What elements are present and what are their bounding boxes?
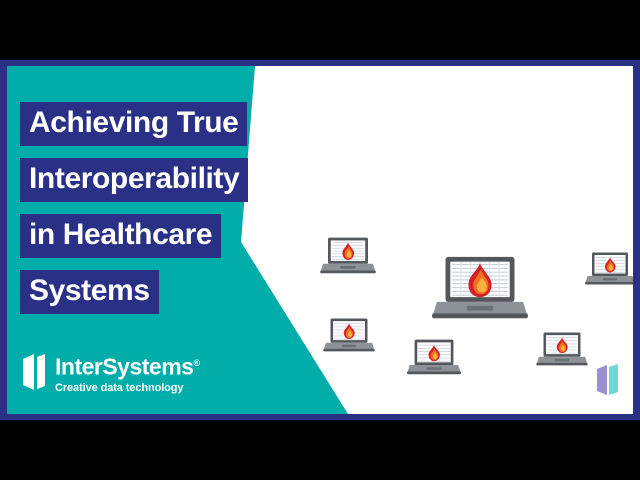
page-title: Achieving True Interoperability in Healt… <box>20 102 350 326</box>
letterbox-bar-top <box>0 0 640 60</box>
title-line-4: Systems <box>20 270 159 314</box>
laptop-with-flame-icon <box>536 333 587 366</box>
slide-canvas: Achieving True Interoperability in Healt… <box>7 66 633 414</box>
letterbox-bar-bottom <box>0 420 640 480</box>
laptop-with-flame-icon <box>585 253 633 285</box>
laptop-with-flame-icon <box>320 238 376 274</box>
laptop-bottom-left <box>407 338 461 377</box>
laptop-with-flame-icon <box>323 319 374 352</box>
logo-text-block: InterSystems® Creative data technology <box>55 351 200 396</box>
video-slide-frame: Achieving True Interoperability in Healt… <box>0 60 640 420</box>
laptop-mid-left <box>323 317 375 354</box>
title-line-3: in Healthcare <box>20 214 221 258</box>
laptop-with-flame-icon <box>407 340 461 375</box>
laptop-with-flame-icon <box>432 257 528 318</box>
title-line-2: Interoperability <box>20 158 248 202</box>
brand-label: InterSystems <box>55 354 193 380</box>
brand-name: InterSystems® <box>55 351 200 380</box>
brand-tagline: Creative data technology <box>55 381 200 396</box>
laptop-center <box>432 254 528 323</box>
title-line-1: Achieving True <box>20 102 247 146</box>
laptop-top-left <box>320 236 376 276</box>
intersystems-corner-mark-icon <box>594 362 620 398</box>
laptop-right <box>585 251 633 287</box>
intersystems-mark-icon <box>22 353 46 391</box>
screenshot-stage: Achieving True Interoperability in Healt… <box>0 0 640 480</box>
intersystems-logo: InterSystems® Creative data technology <box>22 351 200 396</box>
laptop-bottom-right <box>536 331 588 368</box>
registered-trademark-icon: ® <box>193 358 199 368</box>
